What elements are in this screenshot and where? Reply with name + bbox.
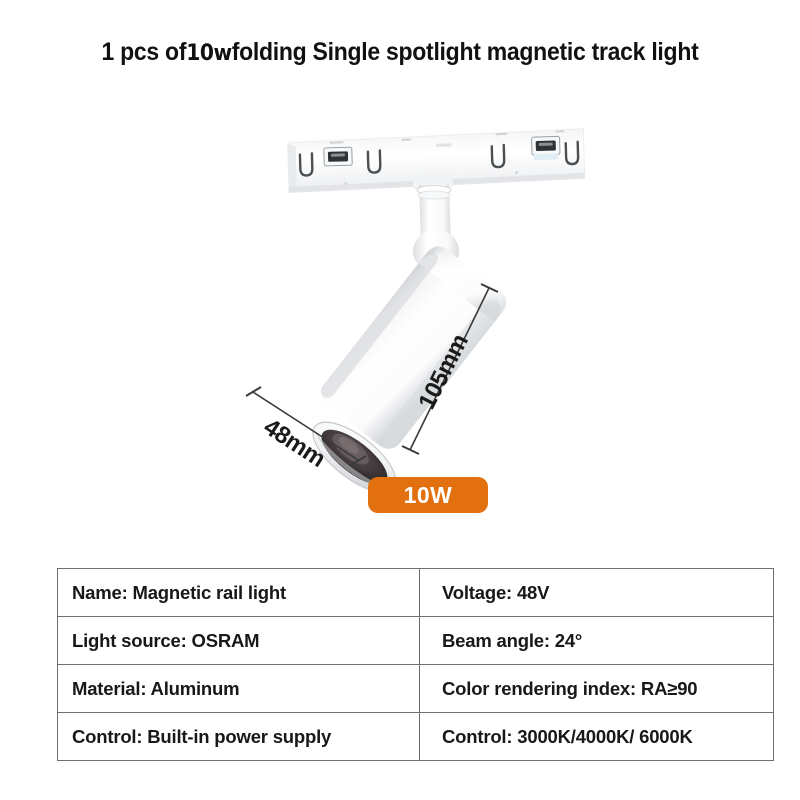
wattage-badge-label: 10W — [404, 484, 453, 507]
page-title: 1 pcs of10wfolding Single spotlight magn… — [32, 38, 768, 67]
spec-cell-voltage: Voltage: 48V — [420, 569, 774, 617]
dimension-48mm-label: 48mm — [259, 413, 330, 472]
spec-cell-control-supply: Control: Built-in power supply — [58, 713, 420, 761]
spec-cell-cri: Color rendering index: RA≥90 — [420, 665, 774, 713]
page-title-prefix: 1 pcs of — [102, 38, 187, 66]
specifications-table: Name: Magnetic rail light Voltage: 48V L… — [57, 568, 774, 761]
table-row: Light source: OSRAM Beam angle: 24° — [58, 617, 774, 665]
spec-cell-beam-angle: Beam angle: 24° — [420, 617, 774, 665]
rail-contact-pad-2 — [532, 136, 561, 160]
table-row: Control: Built-in power supply Control: … — [58, 713, 774, 761]
spec-cell-material: Material: Aluminum — [58, 665, 420, 713]
wattage-badge: 10W — [368, 477, 488, 513]
table-row: Material: Aluminum Color rendering index… — [58, 665, 774, 713]
spec-cell-light-source: Light source: OSRAM — [58, 617, 420, 665]
spec-cell-name: Name: Magnetic rail light — [58, 569, 420, 617]
page-title-wattage: 10w — [186, 41, 231, 66]
product-illustration: 48mm 105mm — [0, 95, 800, 495]
spec-cell-color-temp: Control: 3000K/4000K/ 6000K — [420, 713, 774, 761]
table-row: Name: Magnetic rail light Voltage: 48V — [58, 569, 774, 617]
rail-contact-pad-1 — [324, 147, 352, 166]
spotlight-cylinder — [315, 241, 511, 455]
page-title-suffix: folding Single spotlight magnetic track … — [232, 38, 699, 66]
